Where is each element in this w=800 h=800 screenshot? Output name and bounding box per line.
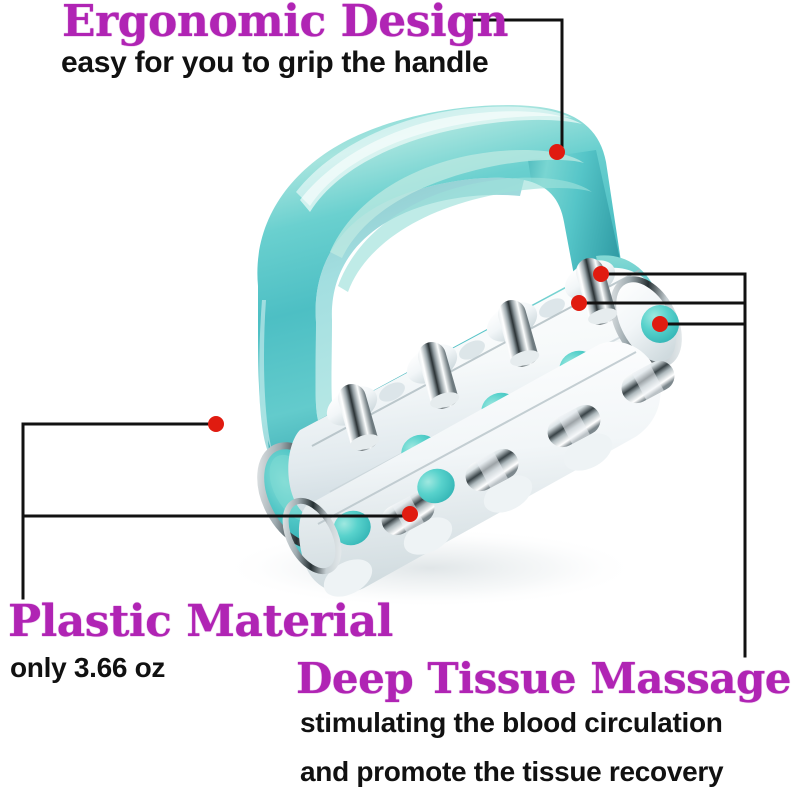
- callout-dot-nub-top: [593, 266, 609, 282]
- subtitle-deep-tissue-line-1: stimulating the blood circulation: [300, 707, 723, 739]
- callout-dots: [208, 144, 668, 522]
- callout-dot-nub-chrome: [571, 295, 587, 311]
- callout-dot-handle-body: [208, 416, 224, 432]
- heading-plastic-material: Plastic Material: [8, 596, 393, 647]
- callout-dot-roller-nub: [402, 506, 418, 522]
- heading-deep-tissue-massage: Deep Tissue Massage: [296, 654, 791, 703]
- heading-ergonomic-design: Ergonomic Design: [62, 0, 508, 47]
- callout-dot-teal-bead: [652, 316, 668, 332]
- subtitle-plastic-material: only 3.66 oz: [10, 652, 165, 684]
- infographic-canvas: Ergonomic Design easy for you to grip th…: [0, 0, 800, 800]
- subtitle-ergonomic-design: easy for you to grip the handle: [61, 46, 488, 80]
- callout-dot-handle-grip: [549, 144, 565, 160]
- subtitle-deep-tissue-line-2: and promote the tissue recovery: [300, 756, 723, 788]
